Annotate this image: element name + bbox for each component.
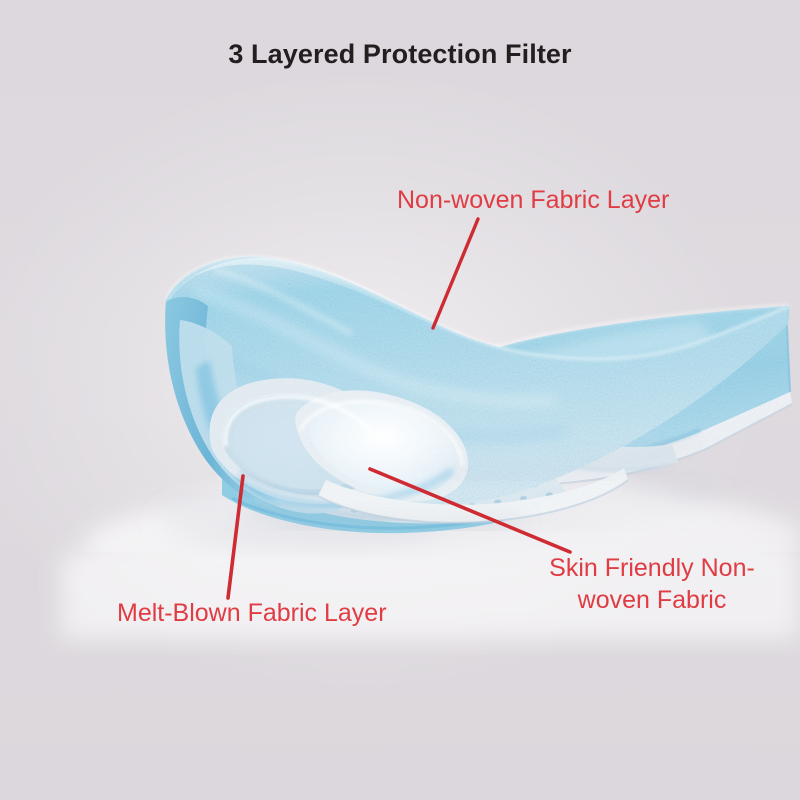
annotation-label-melt-blown-fabric-layer: Melt-Blown Fabric Layer — [117, 597, 387, 629]
infographic-canvas: 3 Layered Protection Filter Non-woven Fa… — [0, 0, 800, 800]
annotation-skin-line-1: Skin Friendly Non- — [549, 554, 755, 582]
annotation-label-skin-friendly-non-woven-fabric: Skin Friendly Non- woven Fabric — [521, 552, 783, 616]
fabric-swatch-illustration — [0, 0, 800, 800]
annotation-skin-line-2: woven Fabric — [578, 586, 727, 614]
annotation-label-non-woven-fabric-layer: Non-woven Fabric Layer — [397, 184, 669, 216]
page-title: 3 Layered Protection Filter — [0, 39, 800, 70]
